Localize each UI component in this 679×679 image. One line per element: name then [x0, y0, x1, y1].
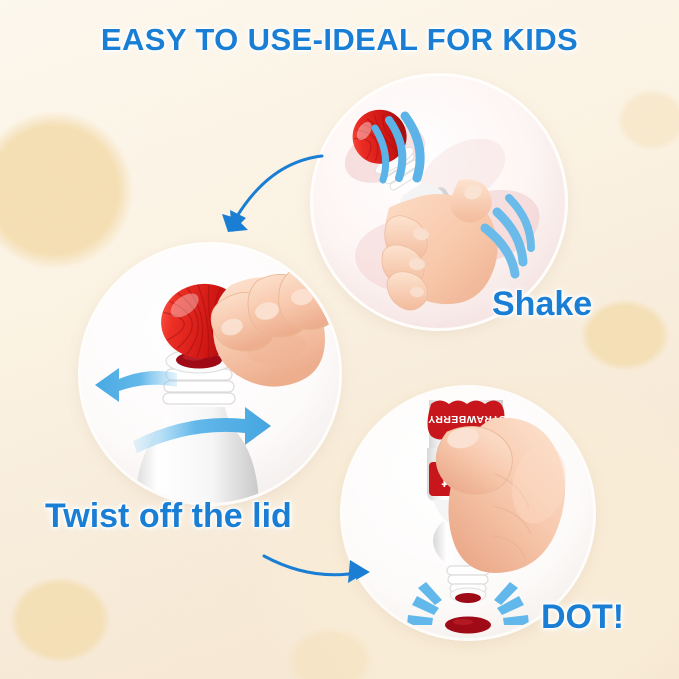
- flow-arrow-shake-to-twist: [196, 150, 326, 250]
- applied-dot: [445, 617, 491, 634]
- twist-illustration: [81, 245, 339, 503]
- step-label-twist: Twist off the lid: [45, 497, 292, 536]
- step-panel-twist: [81, 245, 339, 503]
- step-label-dot: DOT!: [541, 598, 624, 637]
- page-title: EASY TO USE-IDEAL FOR KIDS: [0, 22, 679, 58]
- step-label-shake: Shake: [492, 285, 592, 324]
- infographic-canvas: EASY TO USE-IDEAL FOR KIDS: [0, 0, 679, 679]
